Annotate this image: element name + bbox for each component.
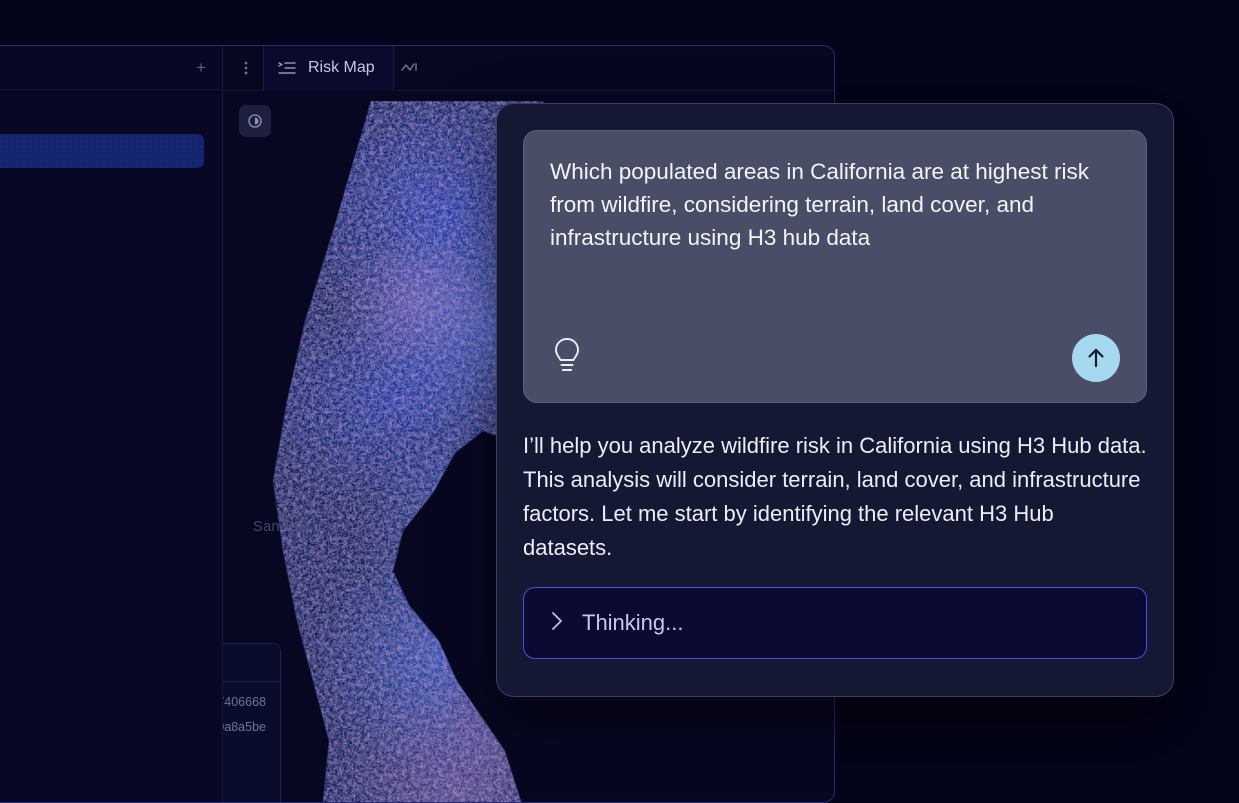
table-list: ca_land_cover 23,646 rows california_bou…: [0, 236, 222, 461]
add-database-icon[interactable]: +: [196, 59, 206, 76]
list-item[interactable]: california_h3_cells 1,215,9...: [0, 311, 222, 336]
table-row: cellid 611922547406668: [223, 690, 266, 715]
map-layers-button[interactable]: [239, 105, 271, 137]
send-button[interactable]: [1072, 334, 1120, 382]
list-item[interactable]: ca_fire-hazard_z... 100,08: [0, 411, 222, 436]
chevron-right-glyph: [550, 610, 564, 632]
list-item[interactable]: ca_wildfire_risk ... 683,9...: [0, 336, 222, 361]
prompt-toolbar: [550, 334, 1120, 382]
list-item[interactable]: california_h3_fire... 523,9...: [0, 386, 222, 411]
overflow-menu-button[interactable]: [229, 46, 263, 91]
list-item[interactable]: ca_wildfire_composite... 68...: [0, 361, 222, 386]
prompt-card[interactable]: Which populated areas in California are …: [523, 130, 1147, 403]
upload-data-button[interactable]: Data or drop files anywhere: [0, 134, 204, 168]
list-icon: [278, 61, 296, 75]
feature-info-card: CA Wildfire Composite Risk Sc cellid 611…: [223, 643, 281, 802]
feature-info-title: CA Wildfire Composite Risk Sc: [223, 644, 280, 682]
layers-icon: [247, 113, 263, 129]
screen: DATABASE + : Data or drop files anywhere…: [0, 0, 1239, 803]
field-value: 8829a8a5be: [223, 715, 266, 740]
list-item[interactable]: ca_terrain 225,396 1006...: [0, 286, 222, 311]
field-value: 611922547406668: [223, 690, 266, 715]
table-row: hexid 8829a8a5be: [223, 715, 266, 740]
thinking-label: Thinking...: [582, 610, 684, 636]
kebab-menu-icon: [244, 60, 248, 76]
list-item[interactable]: ca_land_cover 23,646 rows: [0, 236, 222, 261]
connection-row[interactable]: :: [0, 90, 222, 130]
table-row: FHSZ_TCClas: [223, 789, 266, 802]
sidebar: DATABASE + : Data or drop files anywhere…: [0, 46, 223, 802]
wave-icon: [400, 61, 422, 75]
table-row: FHSZ_Desor: [223, 764, 266, 789]
assistant-message: I’ll help you analyze wildfire risk in C…: [523, 429, 1147, 565]
thinking-accordion[interactable]: Thinking...: [523, 587, 1147, 659]
tab-risk-map[interactable]: Risk Map: [263, 46, 394, 91]
list-item[interactable]: california_bound... 58 rows: [0, 261, 222, 286]
sidebar-header-title: DATABASE: [0, 61, 196, 75]
chat-panel: Which populated areas in California are …: [496, 103, 1174, 697]
schema-label[interactable]: z-1: [0, 208, 222, 236]
map-toolbar: Risk Map: [223, 46, 834, 91]
lightbulb-button[interactable]: [550, 336, 584, 381]
chevron-right-icon: [550, 610, 564, 637]
list-item[interactable]: ca_buildings 189,736 rows: [0, 436, 222, 461]
table-row: FHSZ: [223, 739, 266, 764]
sidebar-header: DATABASE +: [0, 46, 222, 90]
prompt-input[interactable]: Which populated areas in California are …: [550, 155, 1120, 254]
map-place-label: San Francisc: [253, 519, 342, 535]
arrow-up-icon: [1085, 346, 1107, 370]
lightbulb-icon: [550, 336, 584, 376]
tab-label: Risk Map: [308, 59, 375, 77]
tables-section-label: TABLES: [0, 188, 222, 208]
feature-info-body: cellid 611922547406668 hexid 8829a8a5be …: [223, 682, 280, 802]
chart-view-button[interactable]: [394, 46, 428, 91]
